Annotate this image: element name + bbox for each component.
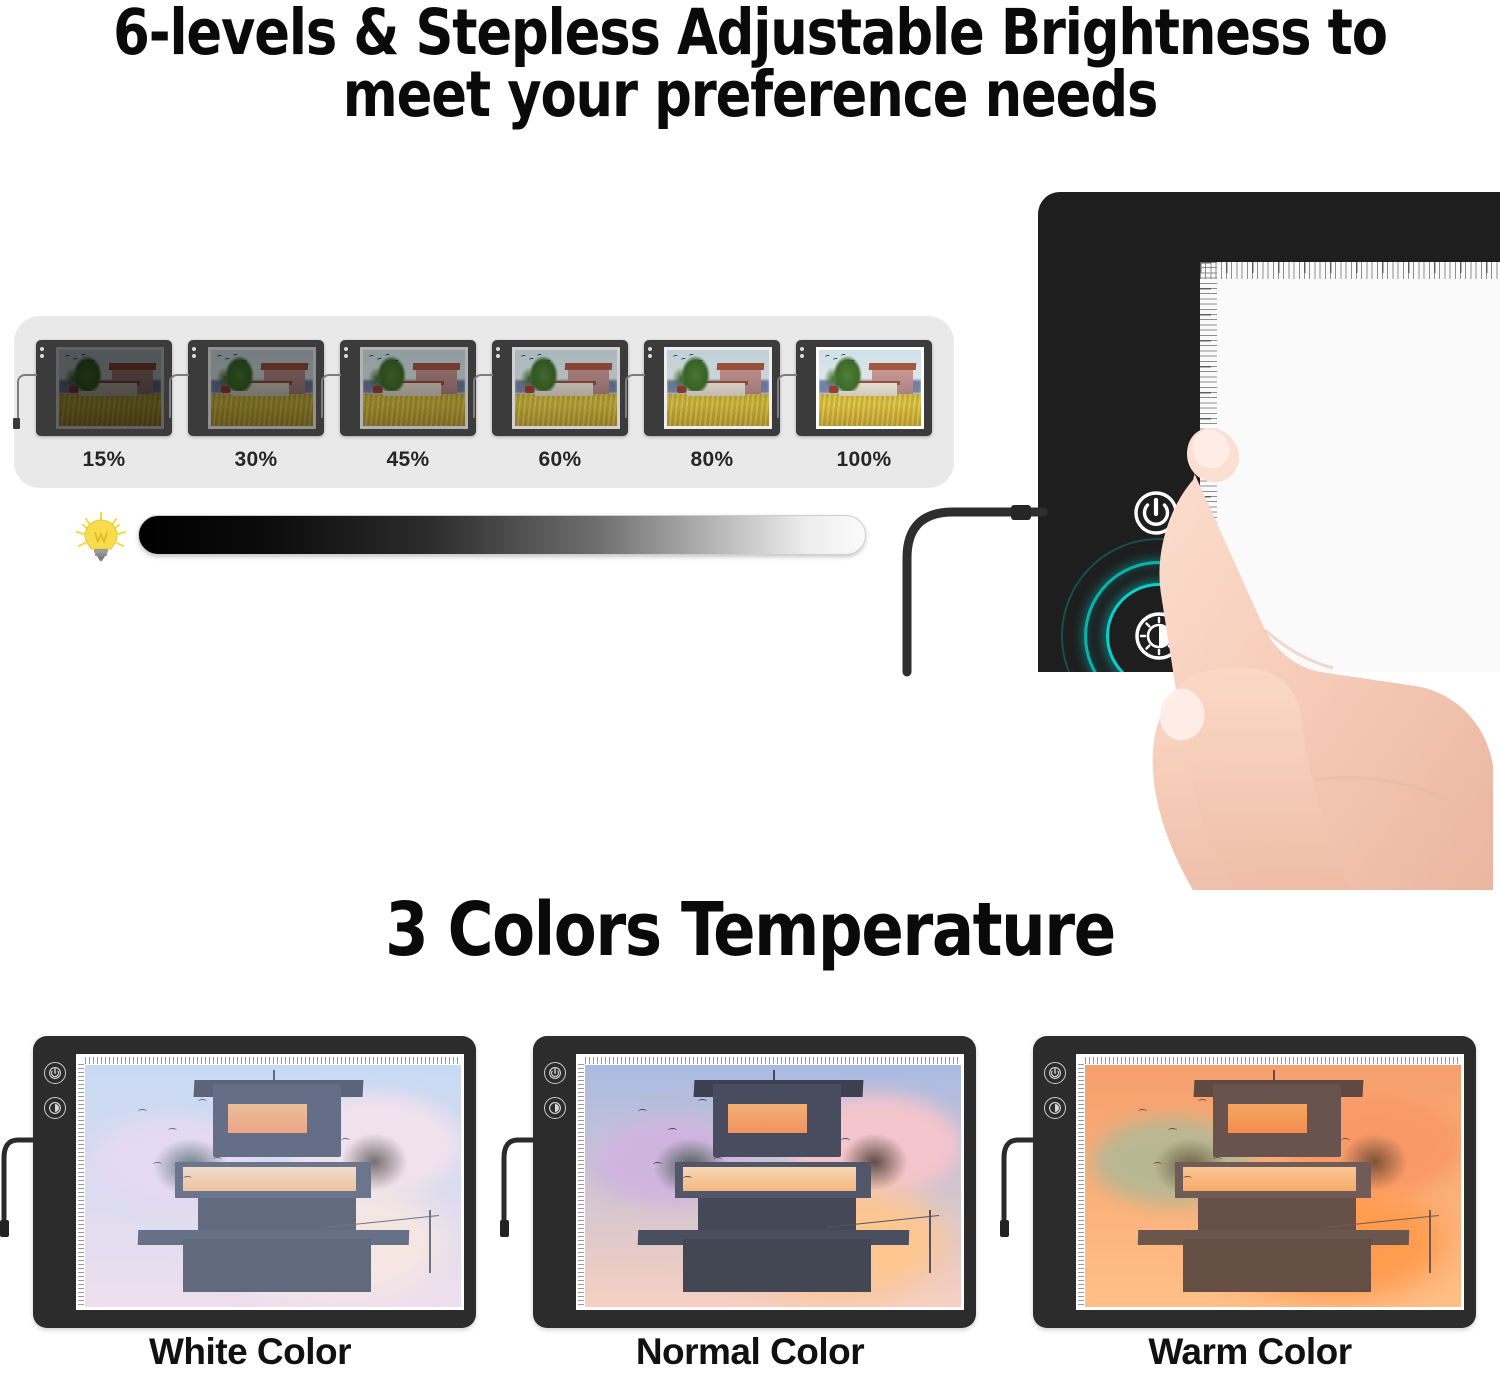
painting-red-cart <box>525 386 534 393</box>
mini-cable <box>473 374 493 420</box>
brightness-level-label: 30% <box>235 448 278 472</box>
treehouse-artwork <box>1085 1065 1461 1307</box>
painting-red-cart <box>69 386 78 393</box>
mini-screen <box>56 347 164 429</box>
painting-red-cart <box>677 386 686 393</box>
farmhouse-painting <box>667 350 769 426</box>
mini-control-dots <box>496 347 501 361</box>
stepless-brightness-slider[interactable] <box>70 506 880 568</box>
ruler-left <box>78 1064 84 1307</box>
power-icon[interactable] <box>1044 1062 1066 1084</box>
mini-plug <box>621 418 628 429</box>
farmhouse-painting <box>515 350 617 426</box>
painting-red-cart <box>221 386 230 393</box>
mini-screen <box>816 347 924 429</box>
color-temperature-row: White Color <box>0 1033 1500 1387</box>
mini-light-pad <box>188 340 324 436</box>
treehouse-artwork <box>585 1065 961 1307</box>
farmhouse-painting <box>59 350 161 426</box>
mini-plug <box>317 418 324 429</box>
color-temperature-label: Warm Color <box>1000 1331 1500 1373</box>
ruler-top-major <box>1200 262 1500 273</box>
brightness-level-label: 80% <box>691 448 734 472</box>
pad-control-buttons <box>544 1062 568 1132</box>
color-temperature-wash <box>1085 1065 1461 1307</box>
farmhouse-painting <box>363 350 465 426</box>
mini-screen <box>512 347 620 429</box>
mini-light-pad <box>644 340 780 436</box>
brightness-level-item: 100% <box>792 340 936 472</box>
page-title-color-temperature: 3 Colors Temperature <box>45 893 1455 967</box>
color-temperature-label: White Color <box>0 1331 500 1373</box>
painting-field-texture <box>515 394 617 426</box>
mini-cable <box>777 374 797 420</box>
mini-screen <box>664 347 772 429</box>
mini-light-pad <box>36 340 172 436</box>
brightness-icon[interactable] <box>1044 1097 1066 1119</box>
brightness-level-label: 45% <box>387 448 430 472</box>
mini-screen <box>208 347 316 429</box>
light-pad <box>1033 1036 1476 1328</box>
pad-screen <box>76 1054 464 1310</box>
painting-roof <box>717 363 764 370</box>
brightness-levels-panel: 15% 30% <box>14 316 954 488</box>
mini-plug <box>469 418 476 429</box>
color-temperature-panel: Normal Color <box>500 1033 1000 1387</box>
brightness-icon[interactable] <box>544 1097 566 1119</box>
mini-screen <box>360 347 468 429</box>
ruler-left <box>578 1064 584 1307</box>
painting-field-texture <box>211 394 313 426</box>
mini-control-dots <box>344 347 349 361</box>
treehouse-artwork <box>85 1065 461 1307</box>
mini-plug <box>13 418 20 429</box>
pad-control-buttons <box>44 1062 68 1132</box>
painting-roof <box>413 363 460 370</box>
painting-field-texture <box>363 394 465 426</box>
mini-light-pad <box>796 340 932 436</box>
color-temperature-panel: Warm Color <box>1000 1033 1500 1387</box>
power-icon[interactable] <box>544 1062 566 1084</box>
mini-control-dots <box>800 347 805 361</box>
painting-field-texture <box>819 394 921 426</box>
mini-plug <box>773 418 780 429</box>
ruler-top <box>85 1057 461 1064</box>
pad-screen <box>1076 1054 1464 1310</box>
brightness-level-item: 60% <box>488 340 632 472</box>
mini-cable <box>625 374 645 420</box>
painting-field-texture <box>667 394 769 426</box>
mini-light-pad <box>340 340 476 436</box>
mini-control-dots <box>648 347 653 361</box>
pad-control-buttons <box>1044 1062 1068 1132</box>
ruler-left <box>1078 1064 1084 1307</box>
painting-red-cart <box>373 386 382 393</box>
brightness-levels-row: 15% 30% <box>14 316 954 488</box>
farmhouse-painting <box>819 350 921 426</box>
painting-field-texture <box>59 394 161 426</box>
brightness-level-item: 45% <box>336 340 480 472</box>
mini-control-dots <box>192 347 197 361</box>
brightness-gradient-bar[interactable] <box>138 515 866 555</box>
mini-control-dots <box>40 347 45 361</box>
painting-red-cart <box>829 386 838 393</box>
painting-roof <box>109 363 156 370</box>
farmhouse-painting <box>211 350 313 426</box>
light-pad <box>533 1036 976 1328</box>
heading-line-2: meet your preference needs <box>53 64 1448 126</box>
color-temperature-wash <box>585 1065 961 1307</box>
color-temperature-label: Normal Color <box>500 1331 1000 1373</box>
brightness-level-label: 100% <box>837 448 892 472</box>
brightness-level-item: 15% <box>32 340 176 472</box>
ruler-top <box>585 1057 961 1064</box>
painting-roof <box>261 363 308 370</box>
pad-screen <box>576 1054 964 1310</box>
mini-cable <box>169 374 189 420</box>
mini-light-pad <box>492 340 628 436</box>
ruler-top <box>1085 1057 1461 1064</box>
page-title-brightness: 6-levels & Stepless Adjustable Brightnes… <box>53 2 1448 125</box>
mini-plug <box>165 418 172 429</box>
painting-roof <box>869 363 916 370</box>
usb-cable <box>0 1132 36 1242</box>
lightbulb-icon <box>70 510 132 566</box>
color-temperature-panel: White Color <box>0 1033 500 1387</box>
brightness-level-label: 15% <box>83 448 126 472</box>
usb-cable <box>1000 1132 1036 1242</box>
brightness-level-item: 80% <box>640 340 784 472</box>
power-cable <box>893 500 1043 672</box>
mini-cable <box>321 374 341 420</box>
hand-pointing <box>1115 380 1500 890</box>
brightness-level-item: 30% <box>184 340 328 472</box>
brightness-icon[interactable] <box>44 1097 66 1119</box>
painting-roof <box>565 363 612 370</box>
brightness-level-label: 60% <box>539 448 582 472</box>
light-pad <box>33 1036 476 1328</box>
power-icon[interactable] <box>44 1062 66 1084</box>
mini-cable <box>17 374 37 420</box>
color-temperature-wash <box>85 1065 461 1307</box>
usb-cable <box>500 1132 536 1242</box>
